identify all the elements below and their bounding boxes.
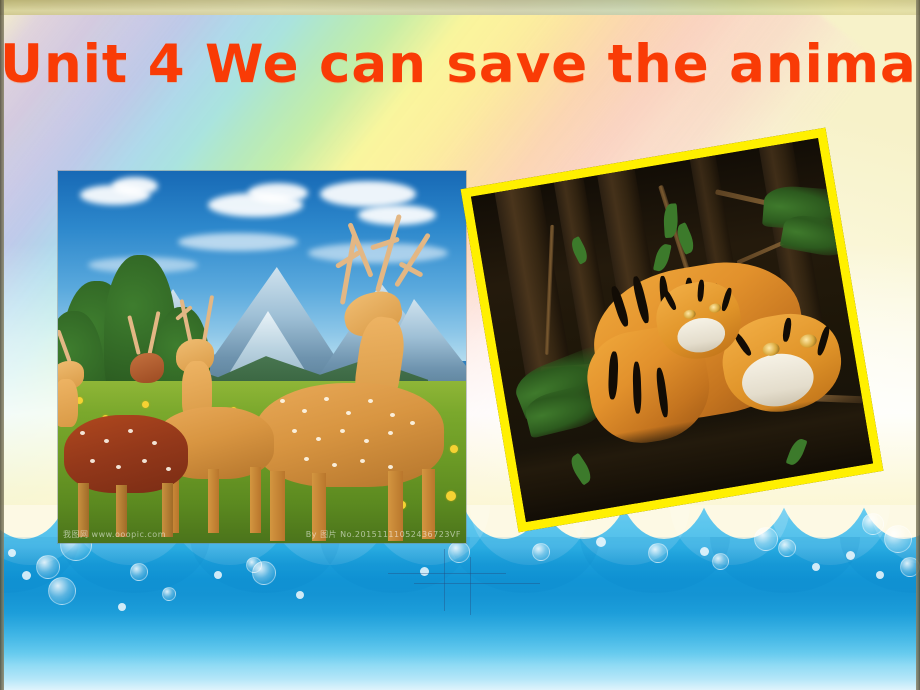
tiger-photo-frame[interactable] — [461, 128, 884, 533]
slide-edge-right — [916, 0, 920, 690]
tiger-photo[interactable] — [461, 128, 884, 533]
top-accent-bar-sheen — [0, 0, 920, 15]
cloud-shape — [248, 183, 308, 203]
slide-canvas: Unit 4 We can save the animals — [0, 0, 920, 690]
deer-photo-watermark-right: By 图片 No.20151111052436723VF — [306, 529, 461, 540]
cloud-shape — [112, 177, 158, 195]
page-title: Unit 4 We can save the animals — [0, 34, 920, 95]
deer-photo-watermark-left: 我图网 www.ooopic.com — [63, 529, 166, 540]
top-accent-bar — [0, 0, 920, 15]
deer-photo[interactable]: 我图网 www.ooopic.com By 图片 No.201511110524… — [58, 171, 466, 543]
cloud-shape — [320, 181, 416, 207]
slide-edge-left — [0, 0, 4, 690]
